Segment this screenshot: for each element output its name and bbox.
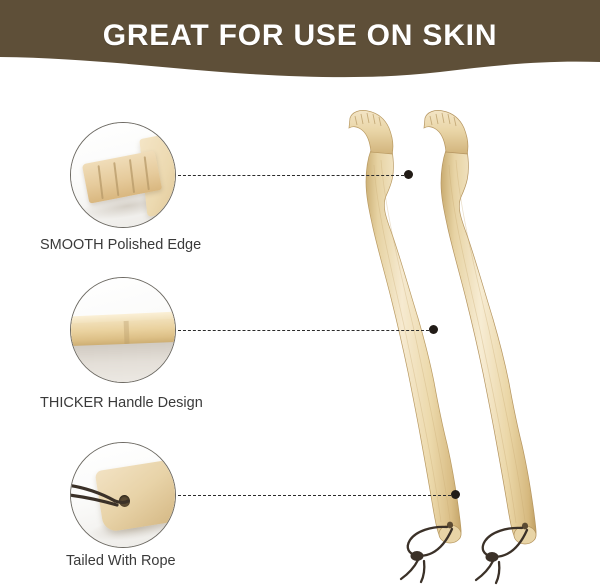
feature-3-label: Tailed With Rope <box>66 552 176 570</box>
feature-2-leader-line <box>178 330 429 332</box>
comb-teeth-left <box>355 113 381 126</box>
feature-3-leader-dot <box>451 490 460 499</box>
back-scratcher-right <box>424 110 536 583</box>
feature-1-label: SMOOTH Polished Edge <box>40 236 201 254</box>
product-infographic: GREAT FOR USE ON SKIN <box>0 0 600 585</box>
rope-knot-right <box>486 552 499 562</box>
feature-2-label: THICKER Handle Design <box>40 394 203 412</box>
feature-3-leader-line <box>178 495 451 497</box>
comb-teeth-right <box>430 113 456 126</box>
page-title: GREAT FOR USE ON SKIN <box>0 19 600 53</box>
header-banner: GREAT FOR USE ON SKIN <box>0 0 600 95</box>
feature-2-detail-circle[interactable] <box>70 277 176 383</box>
feature-1-leader-line <box>178 175 404 177</box>
bamboo-handle-thickness-closeup-icon <box>71 278 175 382</box>
feature-3-detail-circle[interactable] <box>70 442 176 548</box>
bamboo-comb-teeth-closeup-icon <box>71 123 175 227</box>
back-scratcher-left <box>349 110 461 582</box>
feature-2-leader-dot <box>429 325 438 334</box>
rope-right <box>476 528 527 583</box>
feature-1-leader-dot <box>404 170 413 179</box>
rope-closeup-icon <box>71 443 176 548</box>
bamboo-rope-loop-closeup-icon <box>71 443 175 547</box>
rope-left <box>401 527 452 582</box>
rope-knot-left <box>411 551 424 561</box>
feature-1-detail-circle[interactable] <box>70 122 176 228</box>
